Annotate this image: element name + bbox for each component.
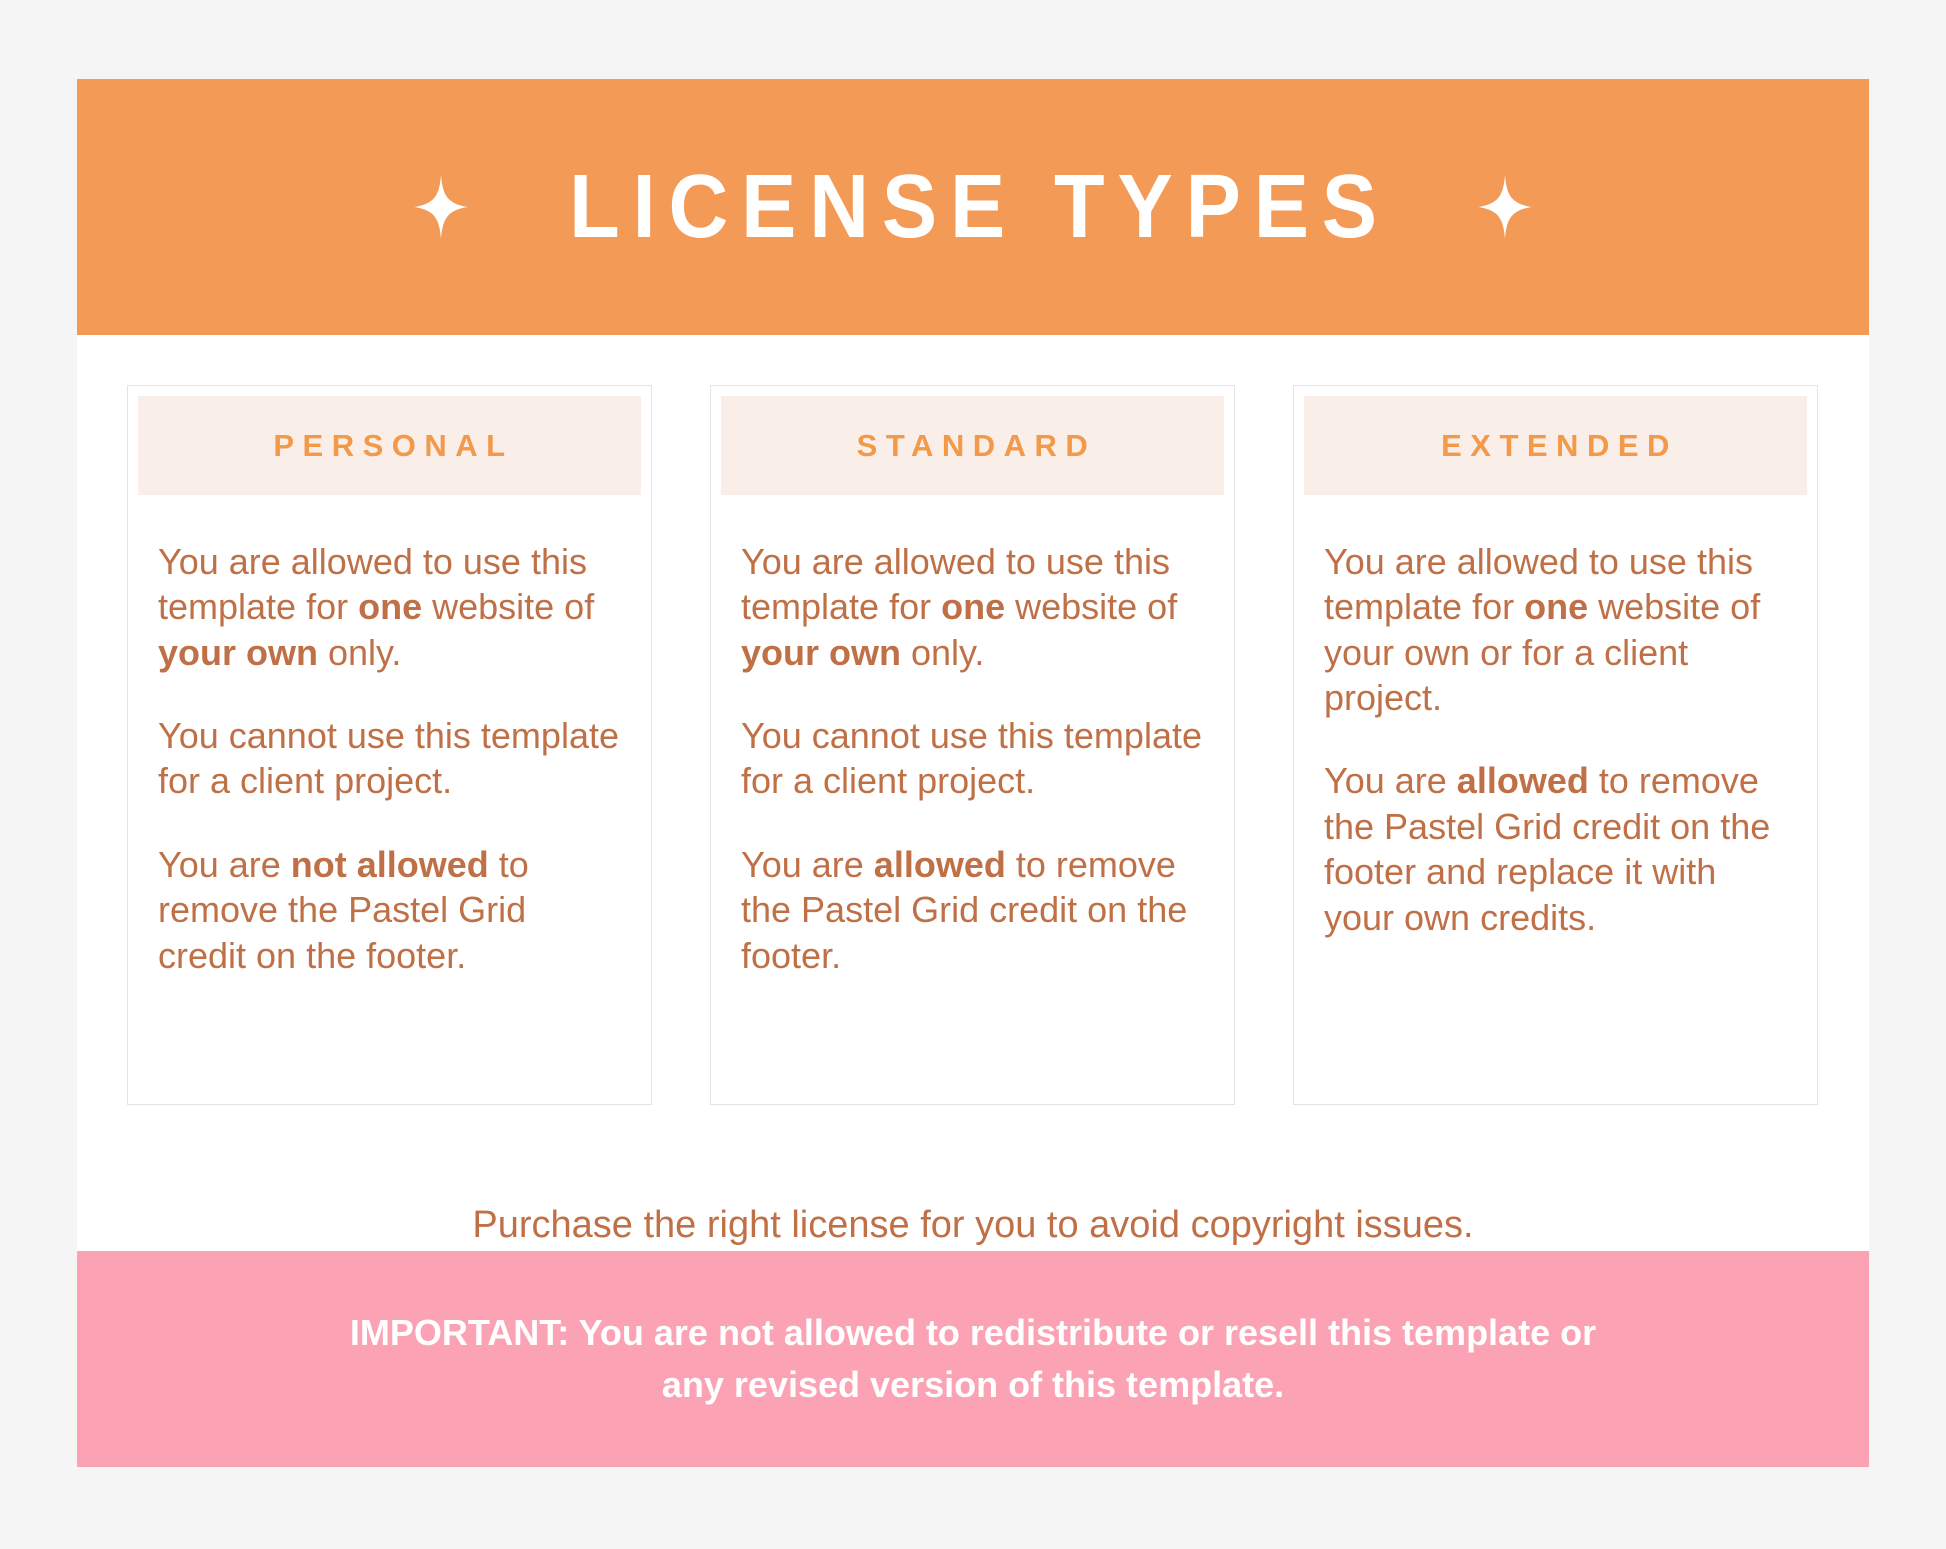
license-card-personal: PERSONAL You are allowed to use this tem… [127,385,652,1105]
card-header-standard: STANDARD [721,396,1224,495]
title-band: LICENSE TYPES [77,79,1869,335]
card-paragraph: You are allowed to use this template for… [1324,539,1787,720]
license-card-standard: STANDARD You are allowed to use this tem… [710,385,1235,1105]
license-types-graphic: LICENSE TYPES PERSONAL You are allowed t… [0,0,1946,1549]
important-notice-bar: IMPORTANT: You are not allowed to redist… [77,1251,1869,1467]
card-paragraph: You are allowed to remove the Pastel Gri… [1324,758,1787,939]
card-body-standard: You are allowed to use this template for… [721,495,1224,978]
card-paragraph: You are allowed to remove the Pastel Gri… [741,842,1204,978]
card-title-extended: EXTENDED [1433,428,1678,464]
license-card-extended: EXTENDED You are allowed to use this tem… [1293,385,1818,1105]
card-paragraph: You are allowed to use this template for… [158,539,621,675]
sparkle-icon-right [1478,175,1532,239]
content-panel: LICENSE TYPES PERSONAL You are allowed t… [77,79,1869,1467]
card-paragraph: You cannot use this template for a clien… [158,713,621,804]
card-paragraph: You are allowed to use this template for… [741,539,1204,675]
card-title-personal: PERSONAL [265,428,513,464]
card-paragraph: You cannot use this template for a clien… [741,713,1204,804]
card-header-extended: EXTENDED [1304,396,1807,495]
card-title-standard: STANDARD [849,428,1097,464]
card-body-extended: You are allowed to use this template for… [1304,495,1807,940]
closing-note: Purchase the right license for you to av… [77,1203,1869,1249]
sparkle-icon-left [414,175,468,239]
card-body-personal: You are allowed to use this template for… [138,495,641,978]
license-cards: PERSONAL You are allowed to use this tem… [127,385,1818,1105]
page-title: LICENSE TYPES [556,162,1390,252]
important-notice-text: IMPORTANT: You are not allowed to redist… [350,1307,1596,1411]
card-header-personal: PERSONAL [138,396,641,495]
card-paragraph: You are not allowed to remove the Pastel… [158,842,621,978]
